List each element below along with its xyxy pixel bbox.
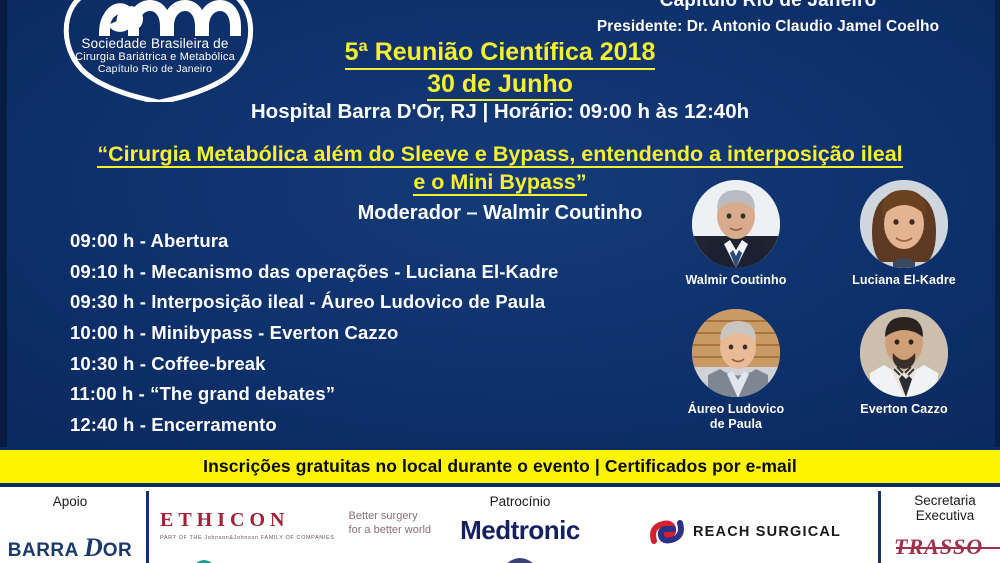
header-chapter: Capítulo Rio de Janeiro [558,0,978,12]
ethicon-tagline-line-1: Better surgery [349,510,418,522]
schedule-list: 09:00 h - Abertura 09:10 h - Mecanismo d… [70,232,670,447]
speaker-row-2: Áureo Ludovico de Paula [672,309,992,431]
event-title: 5ª Reunião Científica 2018 30 de Junho [250,38,750,101]
ethicon-tagline: Better surgery for a better world [349,509,432,538]
ethicon-sublogo: PART OF THE Johnson&Johnson FAMILY OF CO… [160,535,335,541]
ethicon-section: ETHICON PART OF THE Johnson&Johnson FAMI… [160,487,420,563]
secretariat-label-line-2: Executiva [916,508,975,523]
reach-surgical-section: REACH SURGICAL [650,487,900,563]
schedule-item: 09:30 h - Interposição ileal - Áureo Lud… [70,293,670,312]
schedule-item: 11:00 h - “The grand debates” [70,385,670,404]
secretariat-label-line-1: Secretaria [914,493,976,508]
event-theme-line-1: “Cirurgia Metabólica além do Sleeve e By… [97,142,902,168]
reach-surgical-logo: REACH SURGICAL [693,524,841,540]
ethicon-partial-logo-icon [184,551,420,563]
reach-surgical-icon [650,519,684,545]
medtronic-partial-logo-icon [430,550,610,563]
secretariat-label: Secretaria Executiva [890,493,1000,524]
speaker-grid: Walmir Coutinho [672,180,992,437]
medtronic-logo: Medtronic [430,515,610,546]
secretariat-section: Secretaria Executiva TRASSO [890,487,1000,563]
poster-stage: Sociedade Brasileira de Cirurgia Bariátr… [0,0,1000,447]
speaker-card: Walmir Coutinho [672,180,800,287]
support-label: Apoio [0,494,140,509]
support-section: Apoio BARRA DOR [0,487,140,563]
photo-luciana-el-kadre [860,180,948,268]
barra-dor-pre: BARRA [8,540,84,561]
schedule-item: 10:30 h - Coffee-break [70,355,670,374]
footer-divider-2 [878,491,881,563]
event-venue: Hospital Barra D'Or, RJ | Horário: 09:00… [200,100,800,124]
speaker-name: Everton Cazzo [840,402,968,416]
speaker-name: Áureo Ludovico de Paula [672,402,800,431]
sponsor-footer: Apoio BARRA DOR ETHICON PART OF THE John… [0,483,1000,563]
sponsor-section: Patrocínio Medtronic [430,487,610,563]
barra-dor-logo: BARRA DOR [0,533,140,563]
ethicon-logo: ETHICON [160,509,335,532]
photo-walmir-coutinho [692,180,780,268]
registration-banner-text: Inscrições gratuitas no local durante o … [203,456,797,477]
event-title-line-1: 5ª Reunião Científica 2018 [345,38,656,70]
speaker-card: Luciana El-Kadre [840,180,968,287]
schedule-item: 10:00 h - Minibypass - Everton Cazzo [70,324,670,343]
schedule-item: 09:00 h - Abertura [70,232,670,251]
trasso-logo: TRASSO [894,534,1000,560]
barra-dor-script-d: D [84,533,103,562]
speaker-name-line-2: de Paula [710,417,762,431]
barra-dor-post: OR [103,540,133,561]
speaker-name-line-1: Áureo Ludovico [688,402,785,416]
schedule-item: 12:40 h - Encerramento [70,416,670,435]
speaker-card: Everton Cazzo [840,309,968,431]
speaker-name: Luciana El-Kadre [840,273,968,287]
speaker-row-1: Walmir Coutinho [672,180,992,287]
header-president: Presidente: Dr. Antonio Claudio Jamel Co… [558,18,978,36]
speaker-name: Walmir Coutinho [672,273,800,287]
photo-everton-cazzo [860,309,948,397]
ethicon-tagline-line-2: for a better world [349,524,432,536]
photo-aureo-ludovico-de-paula [692,309,780,397]
schedule-item: 09:10 h - Mecanismo das operações - Luci… [70,263,670,282]
event-title-line-2: 30 de Junho [427,70,573,102]
footer-divider-1 [146,491,149,563]
sponsor-label: Patrocínio [430,494,610,509]
event-poster: Sociedade Brasileira de Cirurgia Bariátr… [0,0,1000,563]
event-theme-line-2: e o Mini Bypass” [413,170,586,196]
speaker-card: Áureo Ludovico de Paula [672,309,800,431]
registration-banner: Inscrições gratuitas no local durante o … [0,447,1000,483]
